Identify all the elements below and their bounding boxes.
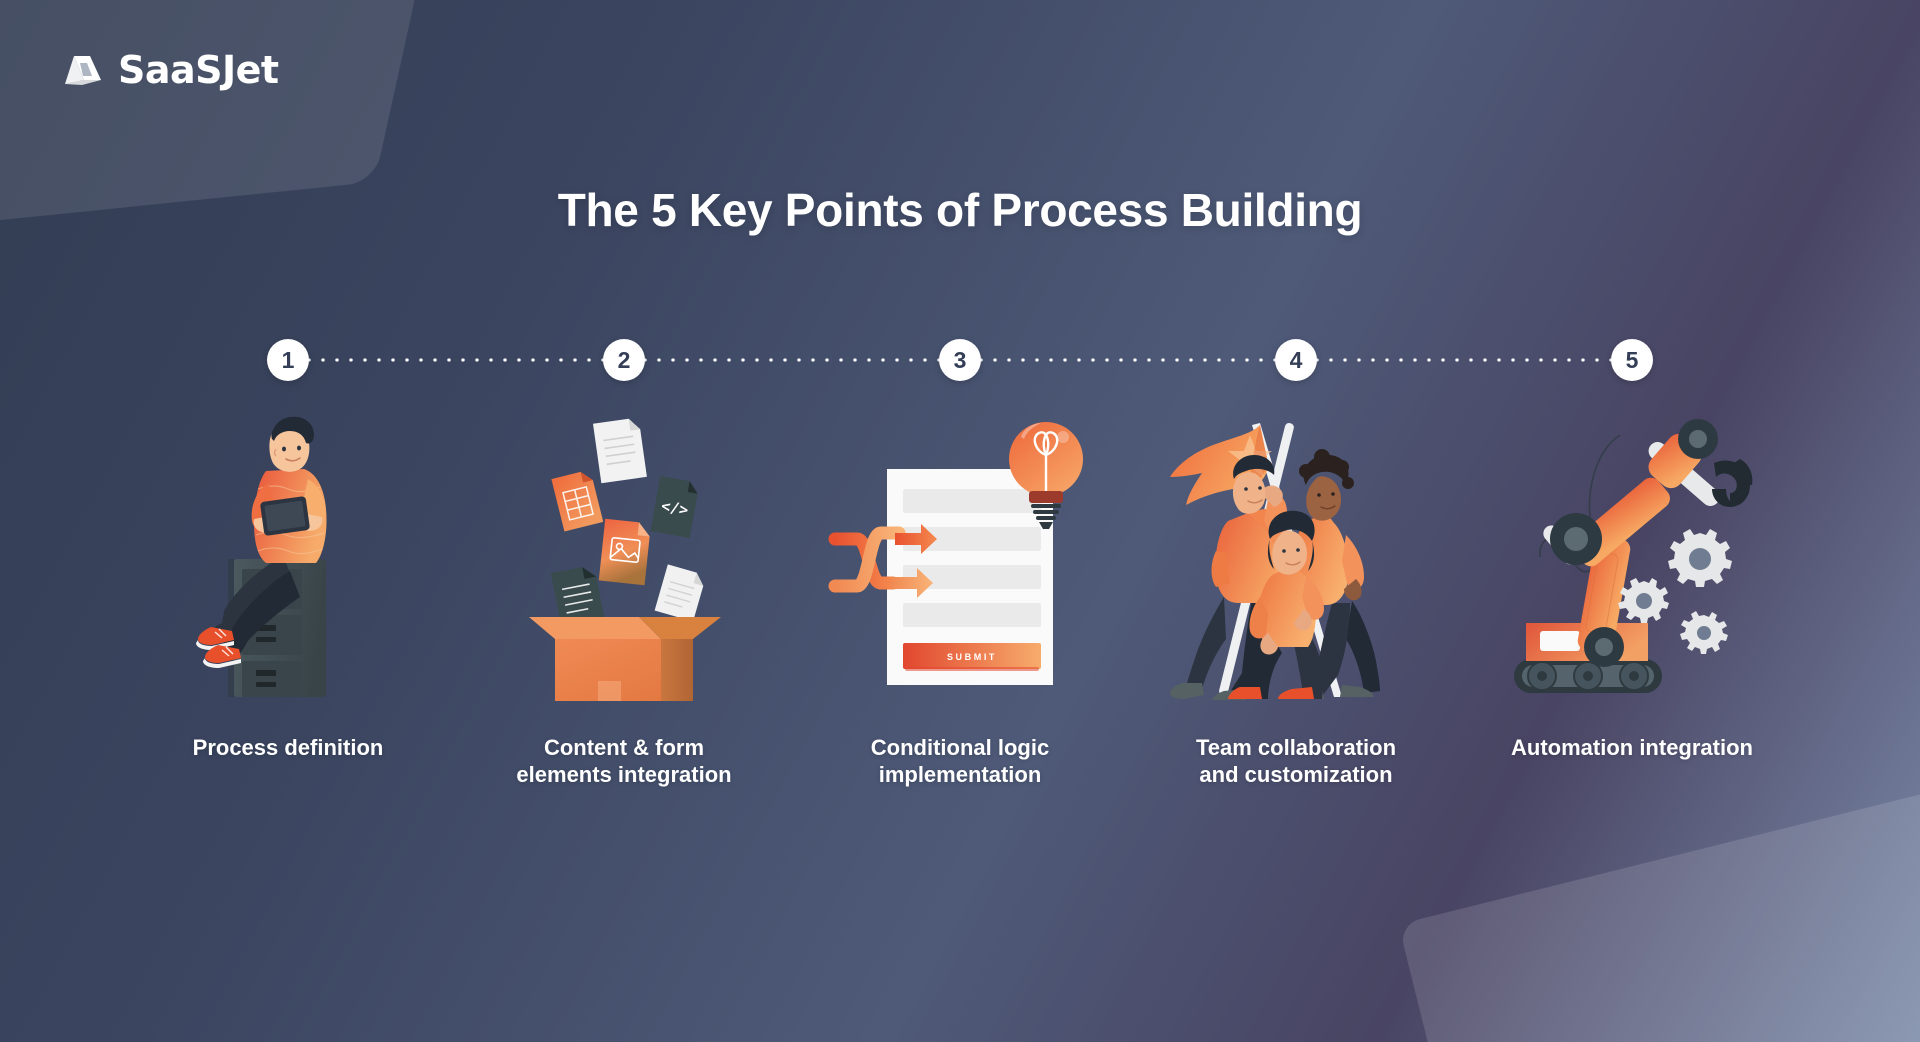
- dotted-connector-3: [960, 359, 1296, 362]
- illustration-open-box-with-floating-document-icons: </>: [456, 406, 792, 701]
- step-label-5: Automation integration: [1511, 735, 1753, 762]
- step-label-line: implementation: [871, 762, 1049, 789]
- step-label-line: Conditional logic: [871, 735, 1049, 762]
- badge-row-1: 1: [120, 330, 456, 390]
- svg-text:SUBMIT: SUBMIT: [947, 652, 997, 662]
- step-number-badge-3[interactable]: 3: [939, 339, 981, 381]
- page-title: The 5 Key Points of Process Building: [0, 183, 1920, 237]
- step-label-line: elements integration: [516, 762, 731, 789]
- illustration-three-people-raising-orange-star-flag: [1128, 406, 1464, 701]
- step-item-2[interactable]: 2: [456, 330, 792, 930]
- step-item-4[interactable]: 4: [1128, 330, 1464, 930]
- illustration-orange-robotic-arm-on-tracks-with-gears: [1464, 406, 1800, 701]
- dotted-connector-1: [288, 359, 624, 362]
- step-label-line: Content & form: [516, 735, 731, 762]
- step-label-line: Team collaboration: [1196, 735, 1396, 762]
- step-number-badge-5[interactable]: 5: [1611, 339, 1653, 381]
- step-item-5[interactable]: 5: [1464, 330, 1800, 930]
- step-label-1: Process definition: [193, 735, 384, 762]
- step-label-line: Process definition: [193, 735, 384, 762]
- step-label-2: Content & form elements integration: [516, 735, 731, 789]
- step-item-3[interactable]: 3: [792, 330, 1128, 930]
- step-label-line: Automation integration: [1511, 735, 1753, 762]
- step-number-badge-2[interactable]: 2: [603, 339, 645, 381]
- step-label-line: and customization: [1196, 762, 1396, 789]
- step-label-3: Conditional logic implementation: [871, 735, 1049, 789]
- brand-wordmark: SaaSJet: [118, 48, 279, 92]
- step-item-1[interactable]: 1: [120, 330, 456, 930]
- dotted-connector-4: [1296, 359, 1632, 362]
- illustration-form-with-submit-button-arrows-and-lightbulb: SUBMIT: [792, 406, 1128, 701]
- steps-row: 1: [120, 330, 1800, 930]
- brand-logo[interactable]: SaaSJet: [60, 48, 279, 92]
- illustration-person-sitting-on-filing-cabinet-with-tablet: [120, 406, 456, 701]
- saasjet-logo-icon: [60, 50, 106, 90]
- step-number-badge-4[interactable]: 4: [1275, 339, 1317, 381]
- infographic-canvas: SaaSJet The 5 Key Points of Process Buil…: [0, 0, 1920, 1042]
- step-number-badge-1[interactable]: 1: [267, 339, 309, 381]
- dotted-connector-2: [624, 359, 960, 362]
- step-label-4: Team collaboration and customization: [1196, 735, 1396, 789]
